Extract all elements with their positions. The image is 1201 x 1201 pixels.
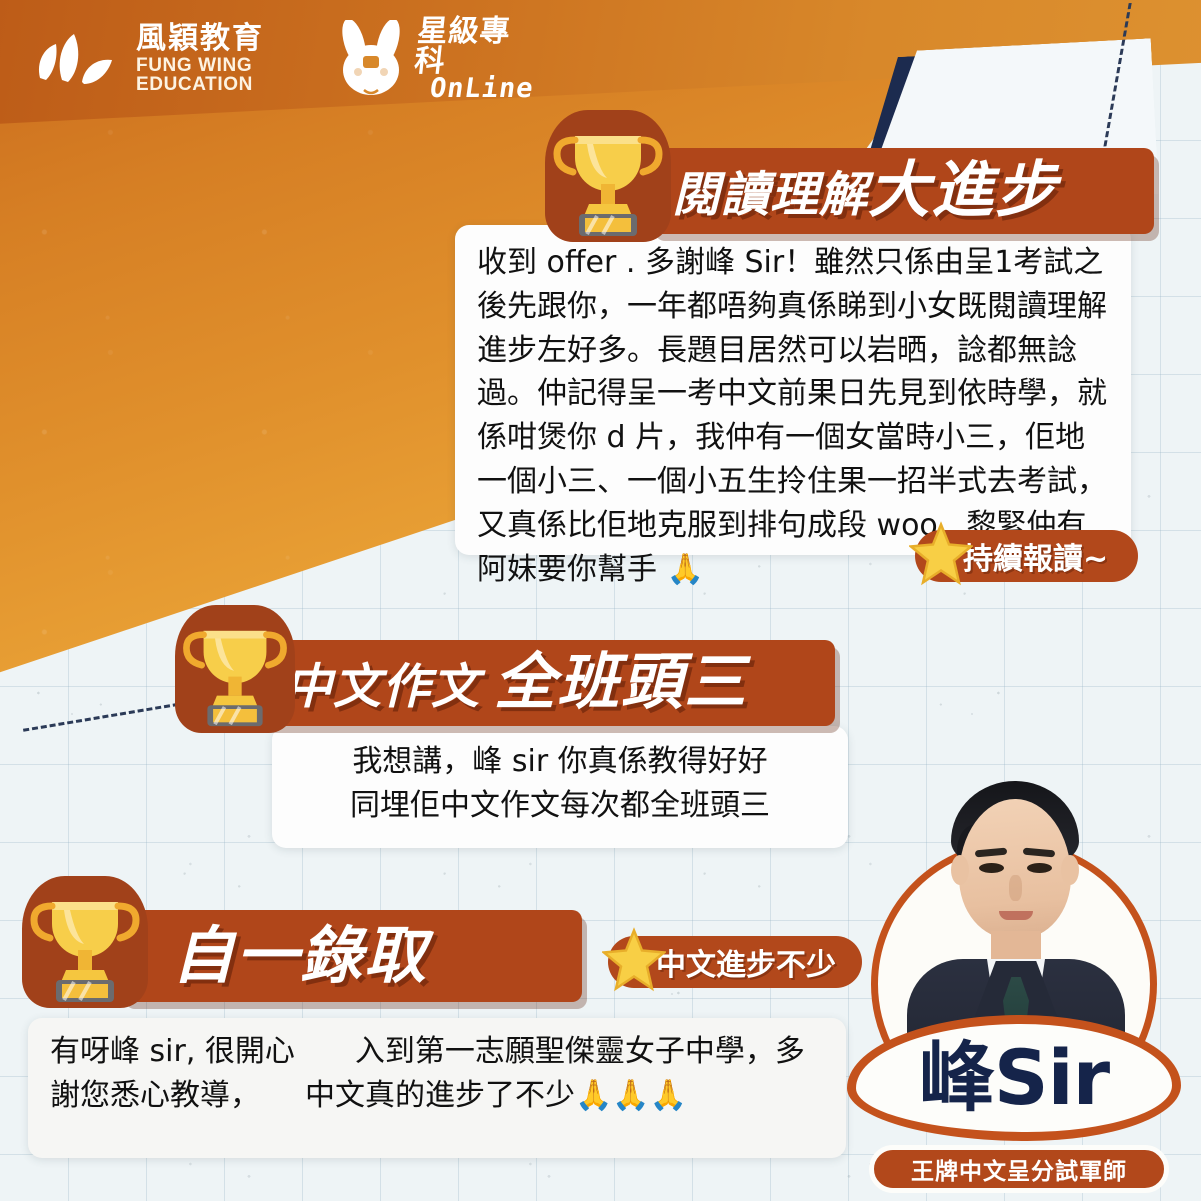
testimonial-text-2: 我想講，峰 sir 你真係教得好好 同埋佢中文作文每次都全班頭三 bbox=[292, 740, 828, 828]
testimonial-bubble-1: 收到 offer . 多謝峰 Sir！雖然只係由呈1考試之後先跟你，一年都唔夠真… bbox=[455, 225, 1131, 555]
award-title-1-big: 大進步 bbox=[868, 155, 1058, 226]
award-title-3: 自一錄取 bbox=[172, 925, 428, 987]
testimonial-bubble-2: 我想講，峰 sir 你真係教得好好 同埋佢中文作文每次都全班頭三 bbox=[272, 726, 848, 848]
teacher-name: 峰Sir bbox=[847, 1015, 1181, 1141]
award-title-2-big: 全班頭三 bbox=[494, 647, 748, 718]
award-title-1: 閱讀理解大進步 bbox=[672, 160, 1058, 221]
award-title-2: 中文作文全班頭三 bbox=[284, 652, 748, 713]
testimonial-bubble-3: 有呀峰 sir, 很開心 入到第一志願聖傑靈女子中學，多謝您悉心教導， 中文真的… bbox=[28, 1018, 846, 1158]
teacher-name-card: 峰Sir bbox=[847, 1015, 1181, 1141]
award-title-2-lead: 中文作文 bbox=[284, 659, 480, 715]
sub-brand-block: 星級專科 OnLine bbox=[334, 17, 520, 101]
award-banner-1: 閱讀理解大進步 bbox=[650, 148, 1154, 234]
brand-name-en: FUNG WING EDUCATION bbox=[136, 56, 316, 94]
bunny-mascot-icon bbox=[334, 20, 410, 98]
teacher-block: 峰Sir 王牌中文呈分試軍師 bbox=[833, 751, 1193, 1201]
award-banner-2: 中文作文全班頭三 bbox=[250, 640, 835, 726]
badge-pill-1: 持續報讀~ bbox=[915, 530, 1138, 582]
badge-pill-3: 中文進步不少 bbox=[608, 936, 862, 988]
trophy-icon bbox=[545, 110, 671, 242]
brand-name-block: 風穎教育 FUNG WING EDUCATION bbox=[136, 24, 316, 94]
sub-brand-en: OnLine bbox=[429, 77, 536, 101]
brand-name-cn: 風穎教育 bbox=[136, 24, 316, 54]
trophy-icon bbox=[175, 605, 295, 733]
brand-header: 風穎教育 FUNG WING EDUCATION 星級專科 OnLine bbox=[0, 0, 520, 118]
star-icon bbox=[602, 928, 666, 997]
teacher-title: 王牌中文呈分試軍師 bbox=[869, 1145, 1169, 1193]
star-icon bbox=[909, 522, 973, 591]
award-banner-3: 自一錄取 bbox=[120, 910, 582, 1002]
testimonial-text-3: 有呀峰 sir, 很開心 入到第一志願聖傑靈女子中學，多謝您悉心教導， 中文真的… bbox=[50, 1030, 824, 1118]
award-title-1-lead: 閱讀理解 bbox=[672, 167, 868, 223]
sub-brand-cn: 星級專科 bbox=[413, 17, 523, 77]
leaf-logo-icon bbox=[26, 24, 122, 94]
award-title-3-big: 自一錄取 bbox=[172, 919, 428, 992]
trophy-icon bbox=[22, 876, 148, 1008]
promo-poster: 風穎教育 FUNG WING EDUCATION 星級專科 OnLine bbox=[0, 0, 1201, 1201]
